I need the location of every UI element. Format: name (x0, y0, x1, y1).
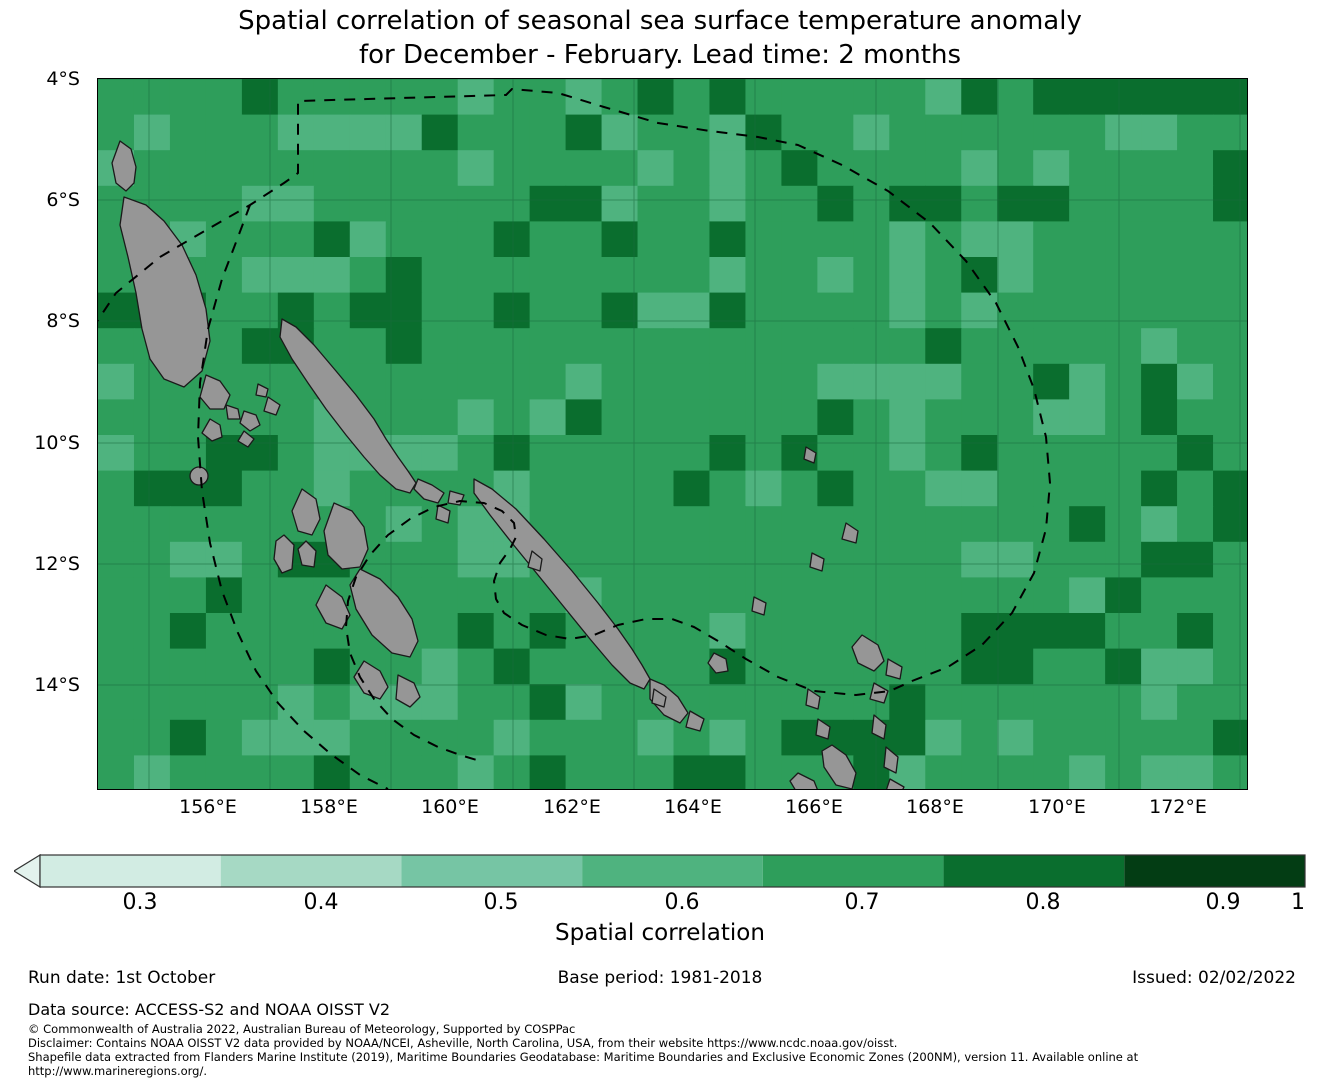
raster-cell (134, 115, 171, 151)
raster-cell (889, 506, 926, 542)
raster-cell (961, 506, 998, 542)
raster-cell (494, 221, 531, 257)
raster-cell (206, 471, 243, 507)
raster-cell (961, 79, 998, 115)
raster-cell (781, 79, 818, 115)
raster-cell (1177, 684, 1214, 720)
raster-cell (817, 79, 854, 115)
raster-cell (709, 221, 746, 257)
raster-cell (170, 150, 207, 186)
raster-cell (781, 720, 818, 756)
raster-cell (674, 221, 711, 257)
raster-cell (1069, 293, 1106, 329)
raster-cell (925, 649, 962, 685)
raster-cell (781, 471, 818, 507)
raster-cell (98, 577, 135, 613)
x-axis-label-7: 170°E (997, 796, 1117, 818)
raster-cell (1105, 435, 1142, 471)
x-axis-label-3: 162°E (512, 796, 632, 818)
raster-cell (134, 435, 171, 471)
raster-cell (314, 435, 351, 471)
raster-cell (1069, 364, 1106, 400)
raster-cell (422, 684, 459, 720)
raster-cell (1033, 471, 1070, 507)
raster-cell (817, 364, 854, 400)
raster-cell (530, 328, 567, 364)
raster-cell (206, 506, 243, 542)
raster-cell (853, 257, 890, 293)
raster-cell (350, 293, 387, 329)
raster-cell (853, 115, 890, 151)
raster-cell (817, 221, 854, 257)
raster-cell (709, 399, 746, 435)
raster-cell (674, 649, 711, 685)
raster-cell (1213, 221, 1248, 257)
raster-cell (1069, 115, 1106, 151)
raster-cell (853, 577, 890, 613)
raster-cell (242, 115, 279, 151)
raster-cell (1177, 257, 1214, 293)
raster-cell (889, 79, 926, 115)
raster-cell (638, 435, 675, 471)
raster-cell (961, 293, 998, 329)
raster-cell (961, 221, 998, 257)
raster-cell (961, 720, 998, 756)
raster-cell (1105, 613, 1142, 649)
data-source: Data source: ACCESS-S2 and NOAA OISST V2 (28, 1000, 390, 1019)
raster-cell (314, 755, 351, 790)
raster-cell (1177, 613, 1214, 649)
raster-cell (638, 471, 675, 507)
raster-cell (242, 506, 279, 542)
raster-cell (170, 186, 207, 222)
raster-cell (98, 613, 135, 649)
raster-cell (242, 150, 279, 186)
raster-cell (422, 328, 459, 364)
raster-cell (638, 506, 675, 542)
raster-cell (745, 150, 782, 186)
raster-cell (1213, 577, 1248, 613)
raster-cell (350, 186, 387, 222)
raster-cell (709, 613, 746, 649)
raster-cell (1069, 186, 1106, 222)
colorbar-tick-1: 0.4 (281, 890, 361, 915)
raster-cell (1177, 649, 1214, 685)
raster-cell (745, 399, 782, 435)
raster-cell (961, 328, 998, 364)
raster-cell (170, 613, 207, 649)
raster-cell (1213, 364, 1248, 400)
raster-cell (709, 506, 746, 542)
raster-cell (494, 115, 531, 151)
raster-cell (566, 115, 603, 151)
raster-cell (170, 115, 207, 151)
raster-cell (1213, 399, 1248, 435)
raster-cell (997, 186, 1034, 222)
raster-cell (1069, 577, 1106, 613)
raster-cell (278, 150, 315, 186)
raster-cell (134, 577, 171, 613)
raster-cell (1033, 150, 1070, 186)
raster-cell (134, 150, 171, 186)
raster-cell (566, 506, 603, 542)
raster-cell (314, 684, 351, 720)
raster-cell (494, 613, 531, 649)
raster-cell (530, 684, 567, 720)
raster-cell (458, 186, 495, 222)
raster-cell (530, 755, 567, 790)
raster-cell (925, 186, 962, 222)
raster-cell (278, 649, 315, 685)
raster-cell (206, 257, 243, 293)
raster-cell (422, 364, 459, 400)
raster-cell (889, 150, 926, 186)
raster-cell (1069, 649, 1106, 685)
raster-cell (817, 613, 854, 649)
raster-cell (602, 293, 639, 329)
raster-cell (98, 542, 135, 578)
raster-cell (350, 150, 387, 186)
raster-cell (1033, 399, 1070, 435)
raster-cell (350, 720, 387, 756)
raster-cell (925, 79, 962, 115)
raster-cell (1033, 506, 1070, 542)
raster-cell (458, 684, 495, 720)
raster-cell (314, 471, 351, 507)
raster-cell (422, 435, 459, 471)
raster-cell (853, 506, 890, 542)
raster-cell (1105, 79, 1142, 115)
raster-cell (1069, 542, 1106, 578)
raster-cell (745, 649, 782, 685)
raster-cell (242, 328, 279, 364)
y-axis-label-0: 4°S (10, 68, 80, 90)
raster-cell (997, 221, 1034, 257)
raster-cell (709, 577, 746, 613)
raster-cell (638, 186, 675, 222)
raster-cell (1141, 221, 1178, 257)
raster-cell (602, 506, 639, 542)
raster-cell (1213, 115, 1248, 151)
raster-cell (745, 755, 782, 790)
raster-cell (781, 399, 818, 435)
raster-cell (961, 186, 998, 222)
raster-cell (1033, 542, 1070, 578)
raster-cell (458, 364, 495, 400)
raster-cell (422, 186, 459, 222)
colorbar-under-arrow (14, 855, 40, 887)
raster-cell (709, 435, 746, 471)
raster-cell (1105, 471, 1142, 507)
x-axis-label-2: 160°E (390, 796, 510, 818)
raster-cell (98, 79, 135, 115)
raster-cell (602, 471, 639, 507)
raster-cell (278, 720, 315, 756)
raster-cell (1033, 328, 1070, 364)
raster-cell (674, 399, 711, 435)
raster-cell (817, 649, 854, 685)
raster-cell (566, 150, 603, 186)
raster-cell (242, 221, 279, 257)
raster-cell (961, 577, 998, 613)
raster-cell (602, 328, 639, 364)
raster-cell (1105, 186, 1142, 222)
raster-cell (422, 150, 459, 186)
raster-cell (638, 221, 675, 257)
raster-cell (638, 577, 675, 613)
raster-cell (997, 364, 1034, 400)
raster-cell (997, 257, 1034, 293)
raster-cell (781, 649, 818, 685)
raster-cell (817, 577, 854, 613)
raster-cell (314, 150, 351, 186)
raster-cell (925, 150, 962, 186)
raster-cell (98, 399, 135, 435)
raster-cell (170, 720, 207, 756)
raster-cell (566, 755, 603, 790)
y-axis-label-1: 6°S (10, 189, 80, 211)
raster-cell (530, 435, 567, 471)
raster-cell (1213, 150, 1248, 186)
raster-cell (494, 293, 531, 329)
colorbar-tick-7: 1 (1258, 890, 1320, 915)
raster-cell (853, 221, 890, 257)
raster-cell (745, 221, 782, 257)
raster-cell (602, 150, 639, 186)
raster-cell (566, 221, 603, 257)
raster-cell (745, 79, 782, 115)
base-period: Base period: 1981-2018 (0, 968, 1320, 988)
raster-cell (458, 115, 495, 151)
raster-cell (925, 542, 962, 578)
raster-cell (98, 328, 135, 364)
raster-cell (674, 577, 711, 613)
raster-cell (566, 471, 603, 507)
raster-cell (494, 755, 531, 790)
raster-cell (1069, 150, 1106, 186)
raster-cell (350, 257, 387, 293)
raster-cell (566, 257, 603, 293)
raster-cell (745, 435, 782, 471)
raster-cell (602, 115, 639, 151)
raster-cell (1177, 79, 1214, 115)
raster-cell (1105, 364, 1142, 400)
raster-cell (961, 613, 998, 649)
raster-cell (781, 257, 818, 293)
raster-cell (278, 755, 315, 790)
raster-cell (134, 684, 171, 720)
raster-cell (350, 115, 387, 151)
raster-cell (997, 613, 1034, 649)
raster-cell (853, 328, 890, 364)
raster-cell (206, 79, 243, 115)
raster-cell (422, 257, 459, 293)
raster-cell (1141, 649, 1178, 685)
raster-cell (350, 79, 387, 115)
correlation-map[interactable] (97, 78, 1248, 790)
raster-cell (458, 79, 495, 115)
raster-cell (98, 435, 135, 471)
raster-cell (1141, 115, 1178, 151)
raster-cell (458, 613, 495, 649)
raster-cell (602, 577, 639, 613)
raster-cell (1213, 257, 1248, 293)
raster-cell (1141, 399, 1178, 435)
raster-cell (638, 257, 675, 293)
raster-cell (206, 115, 243, 151)
raster-cell (1177, 755, 1214, 790)
raster-cell (997, 79, 1034, 115)
raster-cell (422, 542, 459, 578)
raster-cell (98, 755, 135, 790)
raster-cell (638, 364, 675, 400)
raster-cell (98, 649, 135, 685)
raster-cell (1141, 79, 1178, 115)
y-axis-label-4: 12°S (10, 553, 80, 575)
raster-cell (781, 613, 818, 649)
raster-cell (1069, 399, 1106, 435)
x-axis-label-6: 168°E (875, 796, 995, 818)
raster-cell (925, 435, 962, 471)
raster-cell (674, 328, 711, 364)
raster-cell (206, 755, 243, 790)
raster-cell (1177, 399, 1214, 435)
raster-cell (206, 150, 243, 186)
raster-cell (853, 186, 890, 222)
raster-cell (853, 435, 890, 471)
raster-cell (494, 649, 531, 685)
raster-cell (1213, 649, 1248, 685)
x-axis-label-8: 172°E (1118, 796, 1238, 818)
raster-cell (1069, 435, 1106, 471)
raster-cell (1213, 684, 1248, 720)
raster-cell (1177, 471, 1214, 507)
raster-cell (674, 613, 711, 649)
raster-cell (314, 649, 351, 685)
raster-cell (242, 755, 279, 790)
y-axis-label-2: 8°S (10, 310, 80, 332)
raster-cell (889, 328, 926, 364)
raster-cell (817, 328, 854, 364)
raster-cell (638, 542, 675, 578)
raster-cell (1069, 613, 1106, 649)
shapefile-text-line-1: Shapefile data extracted from Flanders M… (28, 1050, 1138, 1064)
raster-cell (494, 364, 531, 400)
raster-cell (1213, 542, 1248, 578)
raster-cell (889, 435, 926, 471)
colorbar-tick-6: 0.9 (1183, 890, 1263, 915)
raster-cell (1033, 257, 1070, 293)
raster-cell (1033, 115, 1070, 151)
raster-cell (602, 186, 639, 222)
raster-cell (889, 293, 926, 329)
raster-cell (494, 684, 531, 720)
raster-cell (602, 79, 639, 115)
raster-cell (530, 221, 567, 257)
raster-cell (530, 115, 567, 151)
raster-cell (350, 328, 387, 364)
raster-cell (170, 684, 207, 720)
raster-cell (1141, 328, 1178, 364)
raster-cell (1069, 328, 1106, 364)
raster-cell (1033, 755, 1070, 790)
raster-cell (961, 364, 998, 400)
raster-cell (709, 542, 746, 578)
page-title: Spatial correlation of seasonal sea surf… (0, 4, 1320, 72)
raster-cell (781, 186, 818, 222)
raster-cell (242, 257, 279, 293)
raster-cell (709, 755, 746, 790)
raster-cell (1033, 649, 1070, 685)
raster-cell (314, 293, 351, 329)
raster-cell (817, 684, 854, 720)
raster-cell (853, 364, 890, 400)
raster-cell (781, 364, 818, 400)
raster-cell (242, 684, 279, 720)
raster-cell (997, 720, 1034, 756)
raster-cell (134, 755, 171, 790)
raster-cell (314, 115, 351, 151)
raster-cell (98, 720, 135, 756)
raster-cell (1033, 684, 1070, 720)
raster-cell (997, 755, 1034, 790)
raster-cell (1177, 221, 1214, 257)
raster-cell (997, 506, 1034, 542)
raster-cell (350, 221, 387, 257)
raster-cell (638, 79, 675, 115)
raster-cell (925, 328, 962, 364)
raster-cell (1105, 720, 1142, 756)
raster-cell (422, 577, 459, 613)
raster-cell (997, 150, 1034, 186)
raster-cell (925, 257, 962, 293)
raster-cell (602, 257, 639, 293)
raster-cell (853, 293, 890, 329)
raster-cell (314, 221, 351, 257)
raster-cell (925, 364, 962, 400)
raster-cell (997, 399, 1034, 435)
raster-cell (745, 186, 782, 222)
raster-cell (1033, 221, 1070, 257)
raster-cell (1141, 506, 1178, 542)
raster-cell (997, 684, 1034, 720)
raster-cell (961, 115, 998, 151)
raster-cell (1141, 755, 1178, 790)
raster-cell (925, 399, 962, 435)
raster-cell (1105, 399, 1142, 435)
raster-cell (1033, 577, 1070, 613)
raster-cell (206, 613, 243, 649)
raster-cell (458, 221, 495, 257)
raster-cell (494, 435, 531, 471)
raster-cell (1141, 186, 1178, 222)
y-axis-label-3: 10°S (10, 432, 80, 454)
colorbar[interactable] (14, 854, 1306, 888)
raster-cell (889, 577, 926, 613)
raster-cell (638, 328, 675, 364)
raster-cell (997, 328, 1034, 364)
raster-cell (961, 542, 998, 578)
raster-cell (1141, 435, 1178, 471)
raster-cell (1033, 79, 1070, 115)
raster-cell (1105, 221, 1142, 257)
raster-cell (1177, 150, 1214, 186)
raster-cell (1141, 471, 1178, 507)
raster-cell (242, 577, 279, 613)
raster-cell (709, 115, 746, 151)
raster-cell (242, 293, 279, 329)
raster-cell (314, 720, 351, 756)
